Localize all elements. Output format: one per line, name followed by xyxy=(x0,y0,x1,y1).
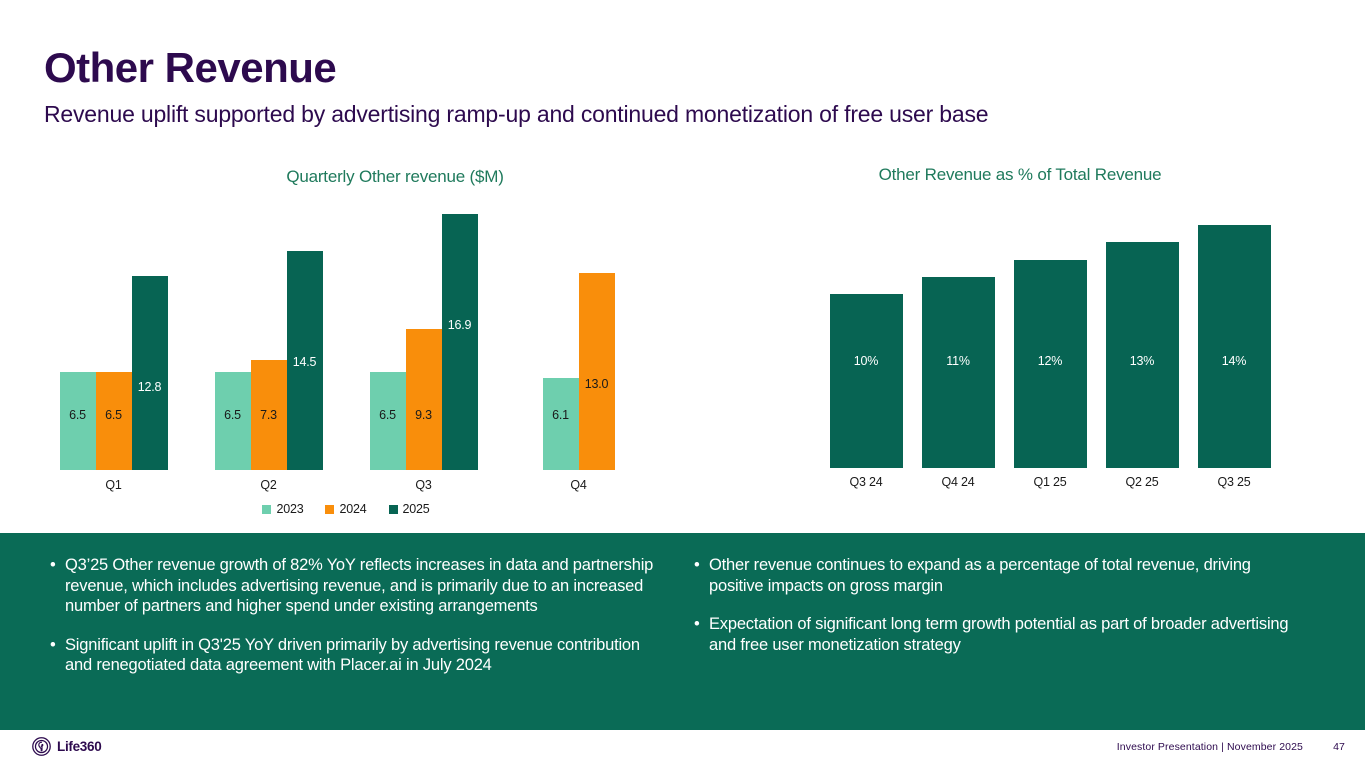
chart-title-other-revenue-pct: Other Revenue as % of Total Revenue xyxy=(700,165,1340,185)
legend-swatch-icon xyxy=(389,505,398,514)
bar-group: 6.57.314.5 xyxy=(215,190,323,470)
bar-group: 6.56.512.8 xyxy=(60,190,168,470)
x-axis-labels-right: Q3 24Q4 24Q1 25Q2 25Q3 25 xyxy=(820,475,1280,489)
x-tick-label: Q2 25 xyxy=(1096,475,1188,489)
x-tick-label: Q4 xyxy=(501,478,656,492)
footer-date: November 2025 xyxy=(1227,741,1303,753)
bar: 13% xyxy=(1106,242,1179,468)
legend-label: 2023 xyxy=(276,502,303,516)
x-tick-label: Q1 25 xyxy=(1004,475,1096,489)
bar-value-label: 6.1 xyxy=(543,408,579,422)
bar-group: 6.113.0 xyxy=(543,190,615,470)
bar: 11% xyxy=(922,277,995,468)
brand-name: Life360 xyxy=(57,739,101,754)
bar-group: 6.59.316.9 xyxy=(370,190,478,470)
bar: 14.5 xyxy=(287,251,323,470)
bar-value-label: 13% xyxy=(1106,354,1179,368)
bar-value-label: 16.9 xyxy=(442,318,478,332)
bar: 9.3 xyxy=(406,329,442,470)
bar-value-label: 9.3 xyxy=(406,408,442,422)
footer-separator: | xyxy=(1221,741,1224,753)
footer-deck-info: Investor Presentation | November 2025 xyxy=(1117,741,1303,753)
legend-item[interactable]: 2023 xyxy=(262,502,303,516)
callout-bullet: Expectation of significant long term gro… xyxy=(692,614,1302,655)
x-tick-label: Q1 xyxy=(36,478,191,492)
callout-band: Q3’25 Other revenue growth of 82% YoY re… xyxy=(0,533,1365,730)
page-subtitle: Revenue uplift supported by advertising … xyxy=(44,101,988,128)
footer-deck-name: Investor Presentation xyxy=(1117,741,1218,753)
x-tick-label: Q3 xyxy=(346,478,501,492)
slide: Other Revenue Revenue uplift supported b… xyxy=(0,0,1365,768)
callout-bullet: Q3’25 Other revenue growth of 82% YoY re… xyxy=(48,555,658,617)
bar-value-label: 14% xyxy=(1198,354,1271,368)
legend-swatch-icon xyxy=(262,505,271,514)
bar-value-label: 13.0 xyxy=(579,377,615,391)
chart-title-quarterly-other-revenue: Quarterly Other revenue ($M) xyxy=(0,167,790,187)
bar-value-label: 14.5 xyxy=(287,355,323,369)
callout-bullet: Other revenue continues to expand as a p… xyxy=(692,555,1302,596)
bar: 6.5 xyxy=(215,372,251,470)
bar-value-label: 12.8 xyxy=(132,380,168,394)
legend-label: 2024 xyxy=(339,502,366,516)
legend-swatch-icon xyxy=(325,505,334,514)
bar: 7.3 xyxy=(251,360,287,470)
bar-value-label: 6.5 xyxy=(60,408,96,422)
life360-logo-icon xyxy=(32,737,51,756)
bar-chart-other-revenue-pct: 10%11%12%13%14% xyxy=(820,190,1280,468)
bar: 6.5 xyxy=(370,372,406,470)
bar-value-label: 12% xyxy=(1014,354,1087,368)
callout-bullet: Significant uplift in Q3'25 YoY driven p… xyxy=(48,635,658,676)
bar-value-label: 11% xyxy=(922,354,995,368)
footer-meta: Investor Presentation | November 2025 47 xyxy=(1117,741,1345,753)
callout-column-left: Q3’25 Other revenue growth of 82% YoY re… xyxy=(48,555,658,694)
x-tick-label: Q3 25 xyxy=(1188,475,1280,489)
bar: 10% xyxy=(830,294,903,468)
x-tick-label: Q3 24 xyxy=(820,475,912,489)
footer: Life360 Investor Presentation | November… xyxy=(0,730,1365,768)
page-number: 47 xyxy=(1327,741,1345,753)
legend-item[interactable]: 2024 xyxy=(325,502,366,516)
bar-value-label: 6.5 xyxy=(215,408,251,422)
brand-logo: Life360 xyxy=(32,737,101,756)
bar: 12% xyxy=(1014,260,1087,469)
bar-value-label: 6.5 xyxy=(370,408,406,422)
bar-value-label: 10% xyxy=(830,354,903,368)
bar: 6.5 xyxy=(96,372,132,470)
x-tick-label: Q4 24 xyxy=(912,475,1004,489)
bar-value-label: 6.5 xyxy=(96,408,132,422)
x-tick-label: Q2 xyxy=(191,478,346,492)
bar-value-label: 7.3 xyxy=(251,408,287,422)
bar-chart-quarterly-other-revenue: 6.56.512.86.57.314.56.59.316.96.113.0 xyxy=(36,190,656,470)
bar: 6.1 xyxy=(543,378,579,470)
x-axis-labels-left: Q1Q2Q3Q4 xyxy=(36,478,656,492)
bar: 14% xyxy=(1198,225,1271,468)
chart-legend: 202320242025 xyxy=(36,502,656,516)
callout-column-right: Other revenue continues to expand as a p… xyxy=(692,555,1302,673)
bar: 16.9 xyxy=(442,214,478,470)
legend-item[interactable]: 2025 xyxy=(389,502,430,516)
page-title: Other Revenue xyxy=(44,44,336,92)
legend-label: 2025 xyxy=(403,502,430,516)
bar: 13.0 xyxy=(579,273,615,470)
bar: 6.5 xyxy=(60,372,96,470)
bar: 12.8 xyxy=(132,276,168,470)
